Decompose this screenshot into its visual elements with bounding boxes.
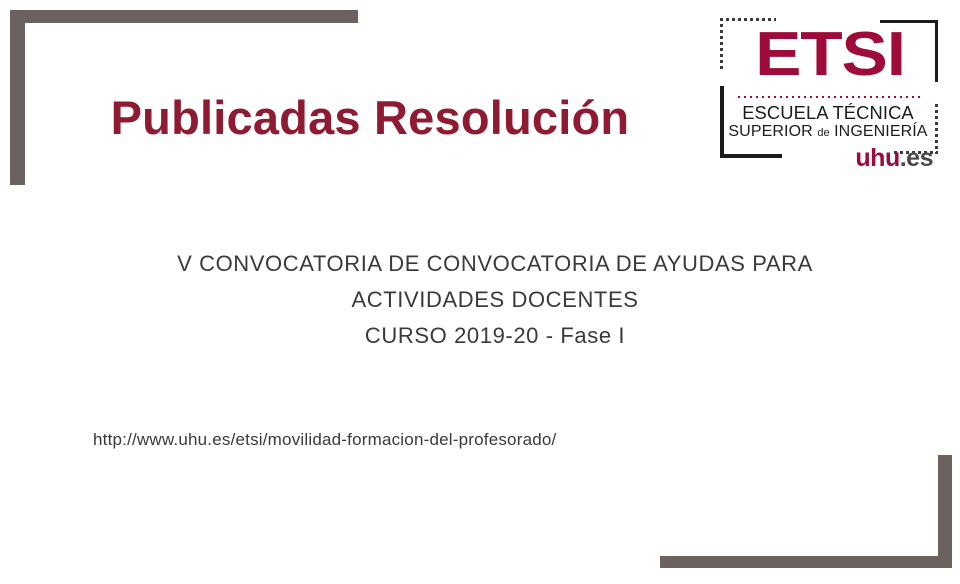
- logo-subtitle-de: de: [817, 127, 829, 139]
- logo-web-tld: .es: [900, 144, 933, 172]
- logo-web-address: uhu.es: [728, 144, 933, 172]
- frame-bottom-right-vertical-bar: [938, 455, 952, 568]
- body-line-3: CURSO 2019-20 - Fase I: [90, 318, 900, 354]
- frame-top-left-horizontal-bar: [10, 10, 358, 23]
- slide-title: Publicadas Resolución: [60, 92, 680, 144]
- logo-web-brand: uhu: [855, 144, 899, 172]
- info-url-link[interactable]: http://www.uhu.es/etsi/movilidad-formaci…: [93, 430, 556, 450]
- logo-corner-bottom-left-vertical-icon: [720, 86, 724, 158]
- logo-dotted-divider: [738, 96, 920, 98]
- etsi-uhu-logo: ETSI ESCUELA TÉCNICA SUPERIOR de INGENIE…: [708, 8, 948, 173]
- slide-body-text: V CONVOCATORIA DE CONVOCATORIA DE AYUDAS…: [90, 246, 900, 354]
- logo-subtitle-ingenieria: INGENIERÍA: [830, 123, 928, 140]
- slide-canvas: Publicadas Resolución V CONVOCATORIA DE …: [0, 0, 960, 584]
- body-line-1: V CONVOCATORIA DE CONVOCATORIA DE AYUDAS…: [90, 246, 900, 282]
- frame-top-left-vertical-bar: [10, 10, 25, 185]
- frame-bottom-right-horizontal-bar: [660, 556, 952, 568]
- logo-subtitle-superior: SUPERIOR: [728, 123, 817, 140]
- logo-dotted-corner-bottom-right-vertical-icon: [935, 104, 938, 154]
- logo-acronym: ETSI: [718, 22, 942, 88]
- body-line-2: ACTIVIDADES DOCENTES: [90, 282, 900, 318]
- logo-subtitle-line-2: SUPERIOR de INGENIERÍA: [728, 123, 928, 141]
- logo-subtitle-line-1: ESCUELA TÉCNICA: [726, 103, 930, 124]
